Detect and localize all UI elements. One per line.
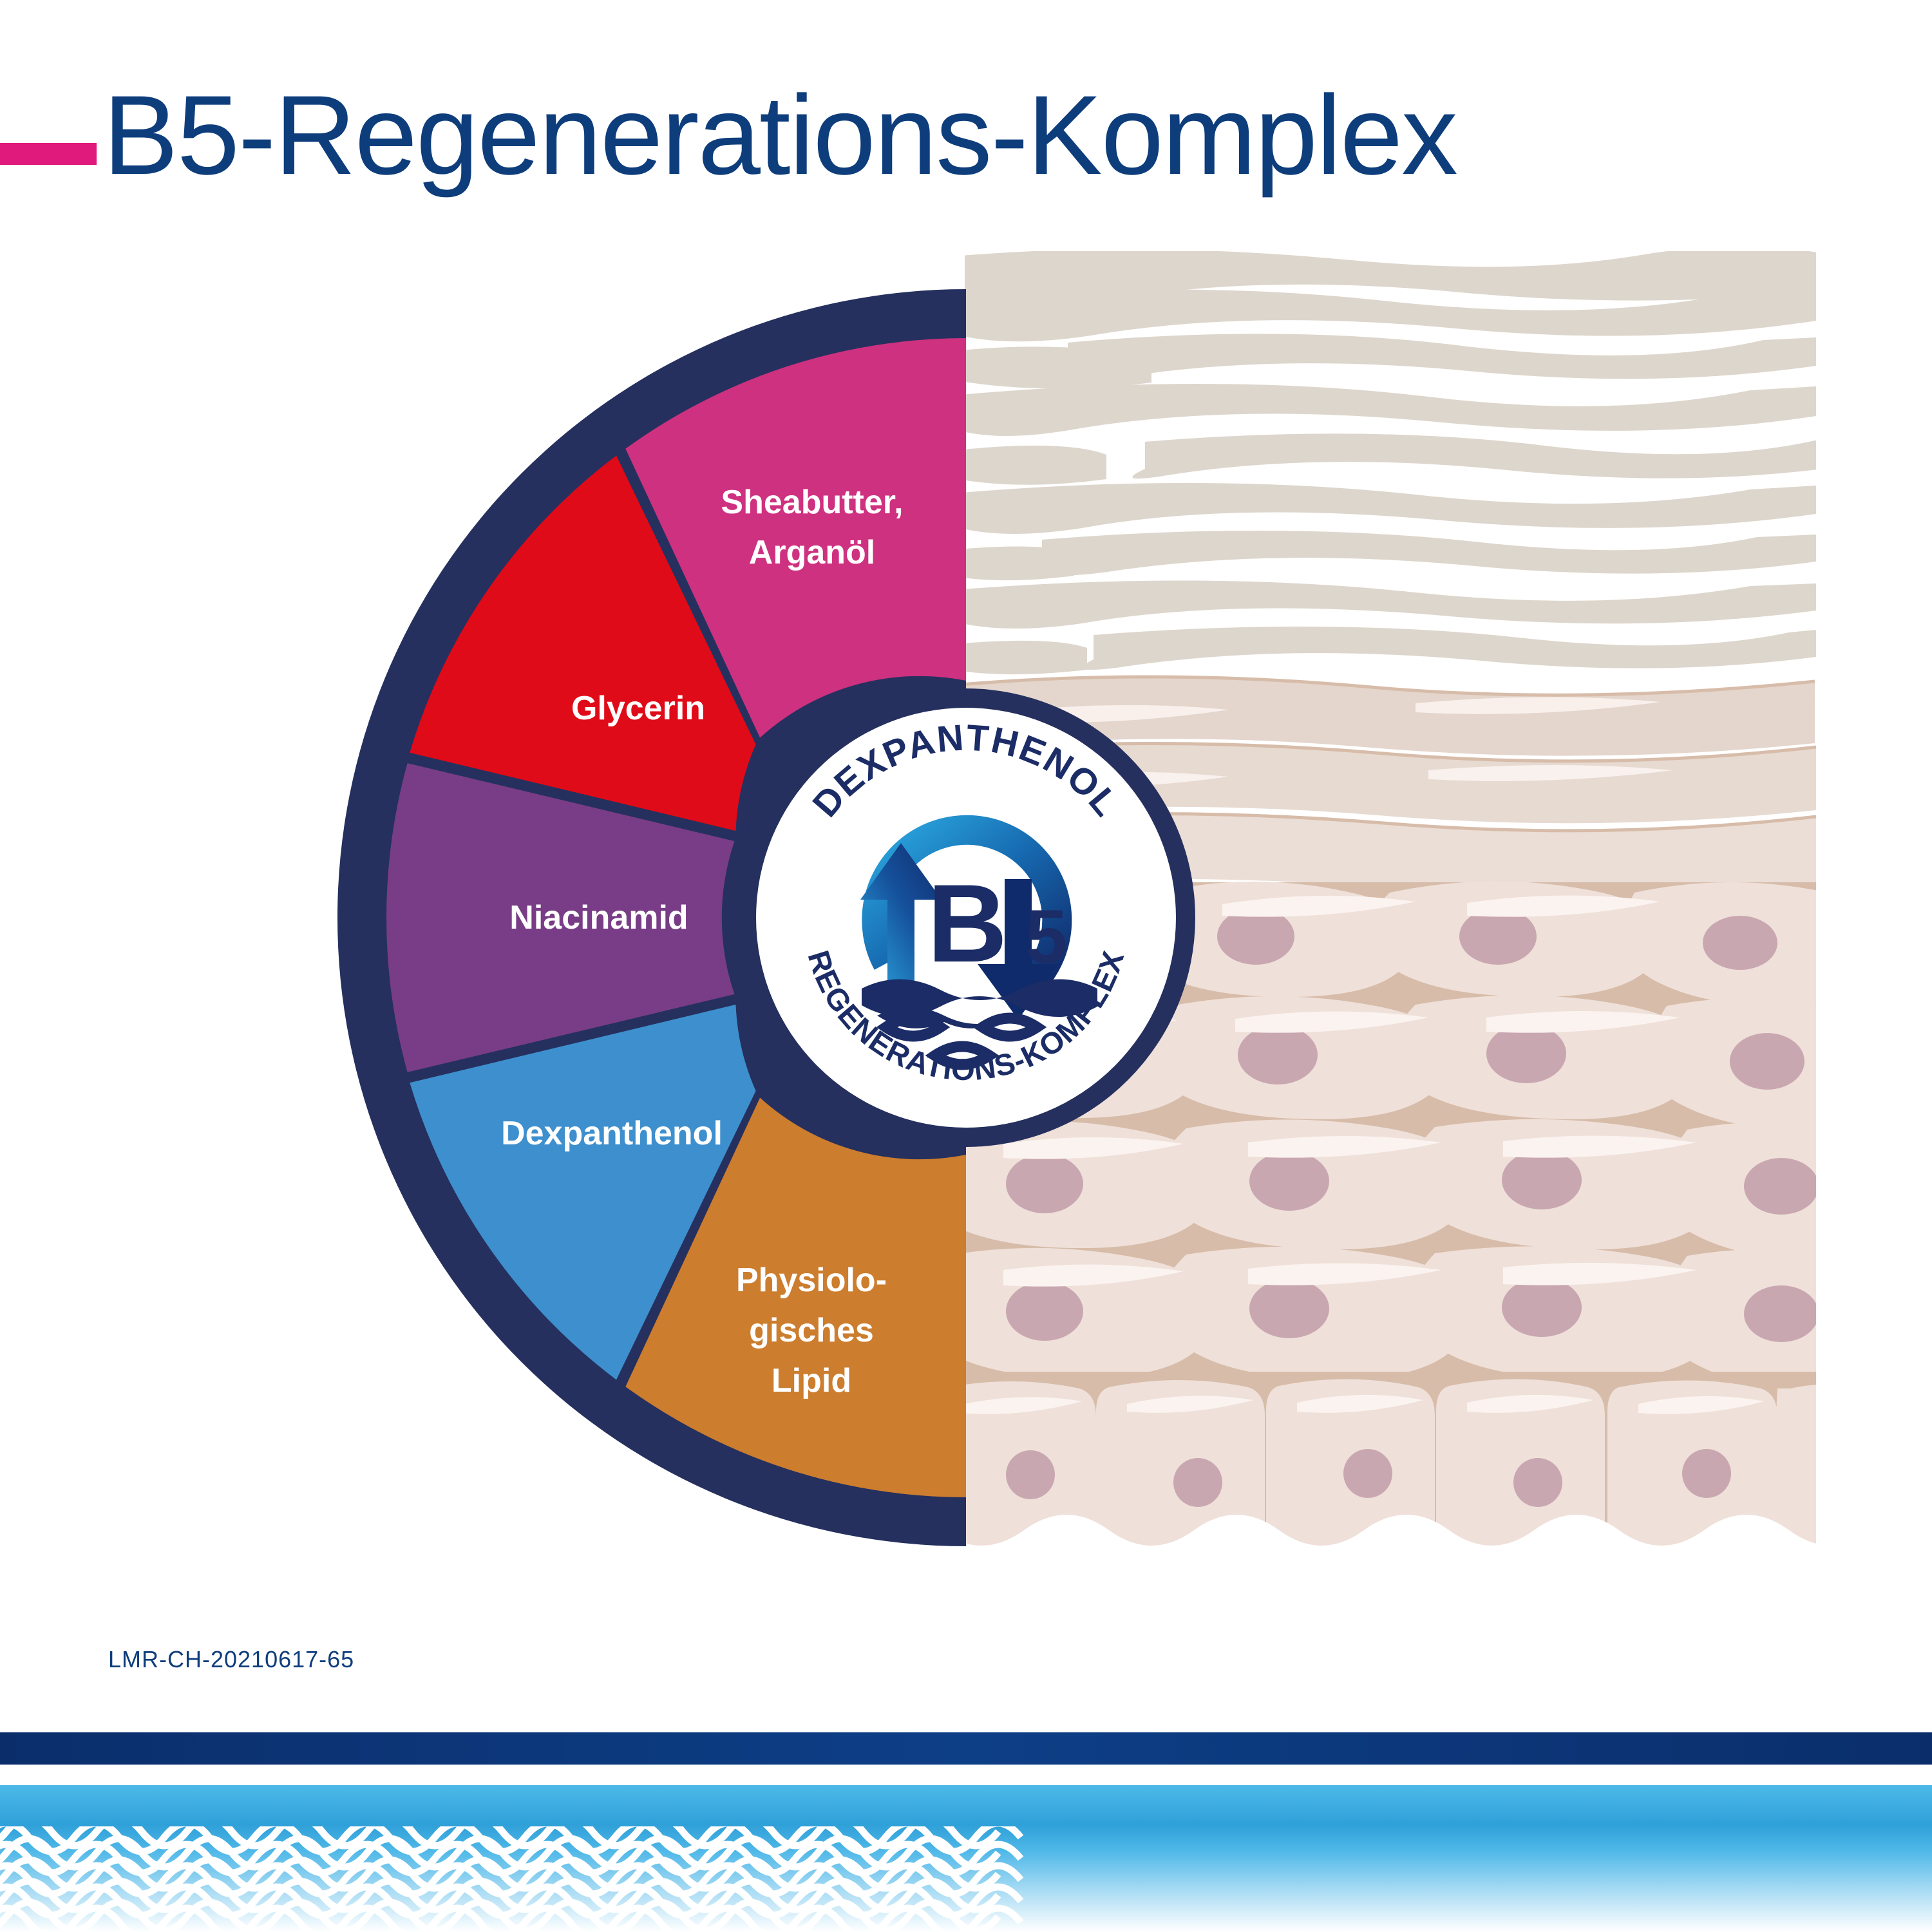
footer-cyan-bar: [0, 1785, 1932, 1826]
basal-cell-layer: [965, 1372, 1816, 1558]
wheel-label-lipid-line1: Physiolo-: [736, 1262, 887, 1299]
footer-wave-band: DEXPANTHENOL REGENERATIONS-KOMPLEX B 5: [0, 1726, 1932, 1932]
wheel-label-lipid-line2: gisches: [749, 1312, 874, 1349]
footer-navy-bar: [0, 1732, 1932, 1765]
wheel-label-sheabutter-line1: Sheabutter,: [721, 484, 903, 521]
badge-center-number: 5: [1025, 895, 1068, 980]
wheel-label-glycerin: Glycerin: [571, 690, 705, 727]
footer-lattice-pattern: [0, 1824, 1932, 1932]
header: B5-Regenerations-Komplex: [0, 0, 1932, 219]
b5-badge-large: DEXPANTHENOL REGENERATIONS-KOMPLEX B 5: [734, 686, 1198, 1150]
title-accent-dash: [0, 143, 97, 165]
wheel-label-lipid-line3: Lipid: [772, 1362, 851, 1399]
wheel-label-niacinamid: Niacinamid: [509, 899, 688, 936]
reference-code: LMR-CH-20210617-65: [108, 1646, 354, 1673]
page-title: B5-Regenerations-Komplex: [103, 71, 1457, 200]
wheel-label-dexpanthenol: Dexpanthenol: [501, 1115, 723, 1152]
wheel-label-sheabutter-line2: Arganöl: [749, 534, 875, 571]
stratum-corneum-layer: [965, 251, 1816, 674]
badge-center-letter: B: [927, 862, 1007, 985]
